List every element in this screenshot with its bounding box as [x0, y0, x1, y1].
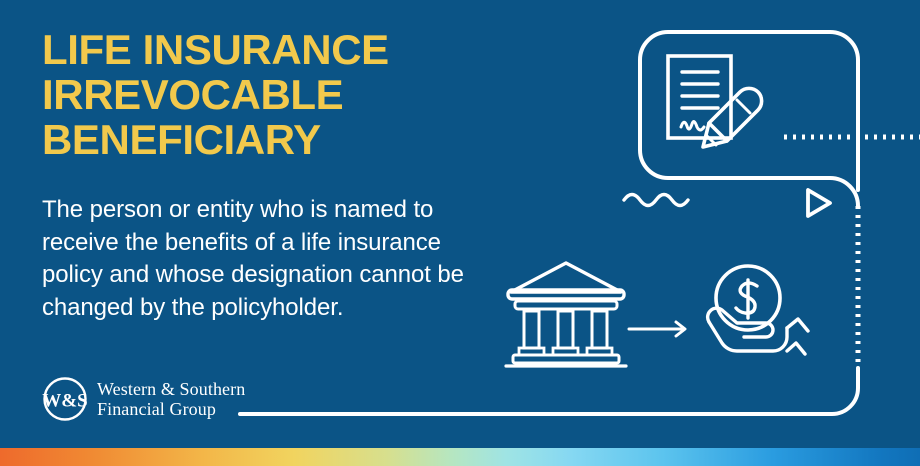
brand-logo[interactable]: W&S Western & Southern Financial Group	[42, 376, 245, 422]
ws-monogram-icon: W&S	[42, 376, 88, 422]
brand-wordmark: Western & Southern Financial Group	[97, 379, 245, 419]
svg-text:W&S: W&S	[42, 391, 87, 412]
page-title: Life Insurance Irrevocable Beneficiary	[42, 28, 512, 163]
infographic-canvas: Life Insurance Irrevocable Beneficiary T…	[0, 0, 920, 466]
bottom-gradient-bar	[0, 448, 920, 466]
definition-text: The person or entity who is named to rec…	[42, 194, 504, 325]
text-column: Life Insurance Irrevocable Beneficiary T…	[42, 28, 512, 163]
